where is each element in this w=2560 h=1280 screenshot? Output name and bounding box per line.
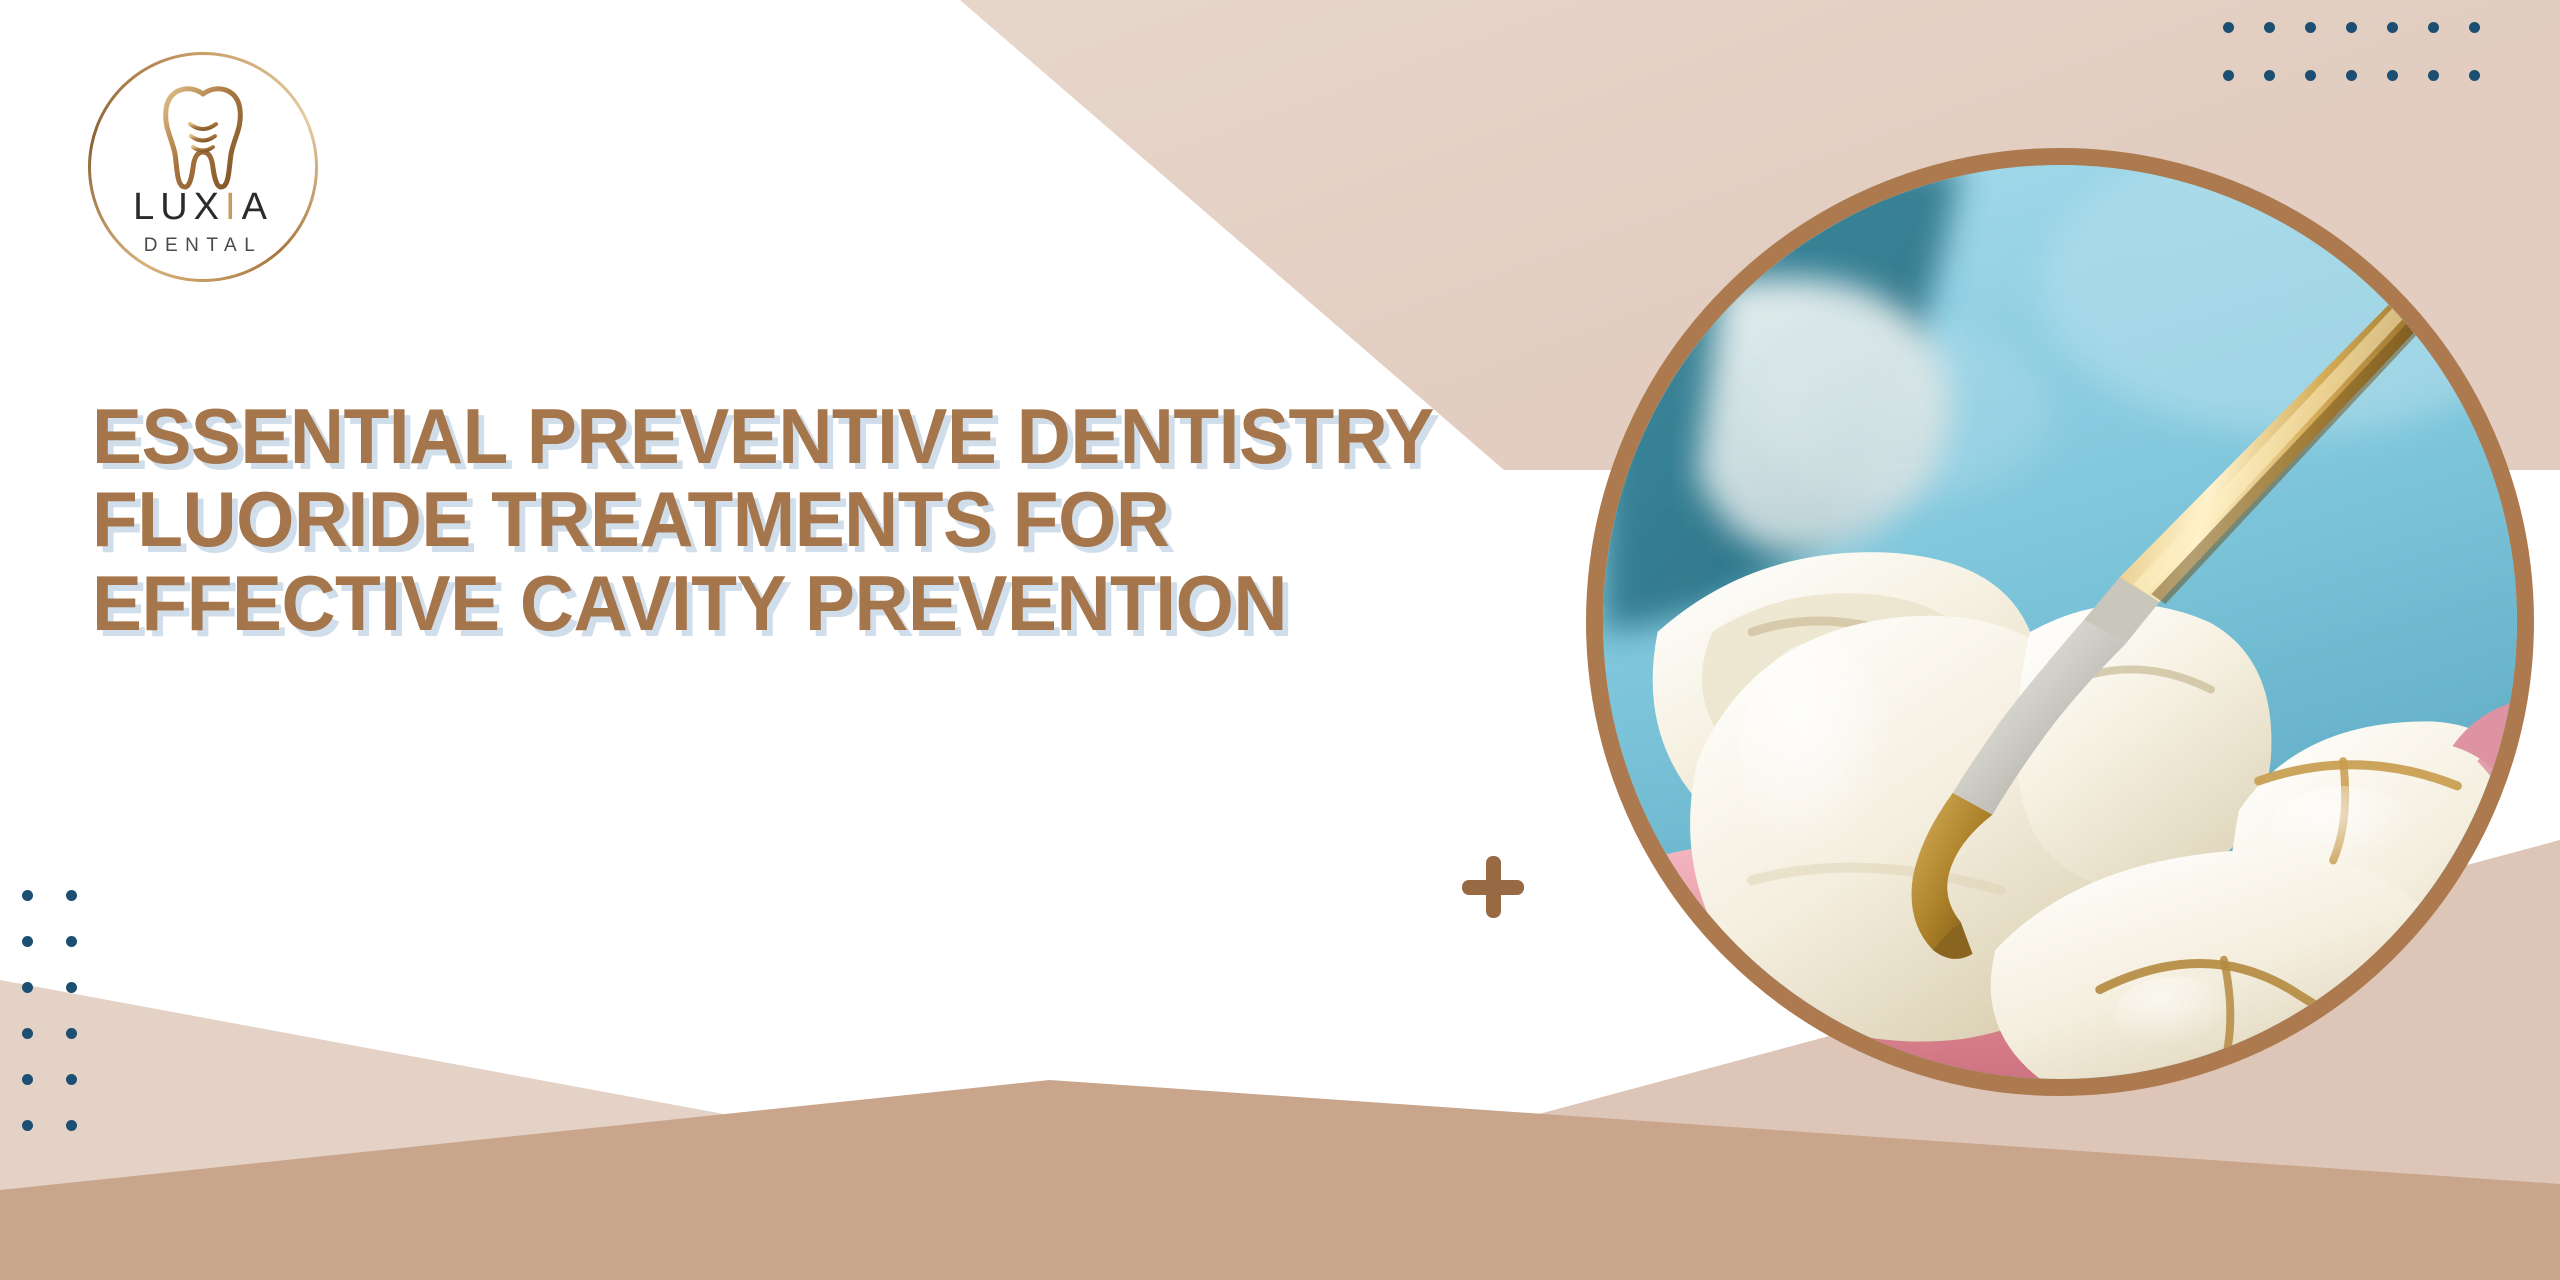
dot [2346, 70, 2357, 81]
dot [2305, 70, 2316, 81]
plus-icon-label: + [1462, 856, 1463, 857]
bottom-left-light-wedge [0, 980, 1620, 1280]
dot [22, 890, 33, 901]
dot [22, 982, 33, 993]
dot [2387, 70, 2398, 81]
dot [66, 1120, 77, 1131]
dot [2223, 22, 2234, 33]
dot [66, 982, 77, 993]
dot [22, 1074, 33, 1085]
bottom-center-tan-triangle [0, 1080, 2560, 1280]
dot [22, 1028, 33, 1039]
brand-logo[interactable]: LUXIA DENTAL [88, 52, 318, 282]
tooth-icon [160, 86, 246, 190]
page-title: ESSENTIAL PREVENTIVE DENTISTRY FLUORIDE … [92, 395, 1652, 645]
plus-icon-vertical-bar [1486, 856, 1501, 918]
dot-grid-bottom-left [22, 890, 110, 1166]
dot [2264, 22, 2275, 33]
logo-wordmark-accent: I [225, 186, 242, 228]
logo-wordmark-lux: LUX [133, 186, 225, 228]
dot [22, 936, 33, 947]
dental-treatment-photo [1603, 165, 2517, 1079]
dot [66, 890, 77, 901]
headline-line-1: ESSENTIAL PREVENTIVE DENTISTRY [92, 395, 1590, 478]
dot [2428, 22, 2439, 33]
dot-grid-top-right [2223, 22, 2510, 118]
dot [66, 1028, 77, 1039]
hero-image-circle [1586, 148, 2534, 1096]
dot [22, 1120, 33, 1131]
plus-icon: + [1462, 856, 1524, 918]
logo-wordmark-tail: A [242, 186, 273, 228]
dot [66, 936, 77, 947]
headline-line-3: EFFECTIVE CAVITY PREVENTION [92, 562, 1590, 645]
dot [2346, 22, 2357, 33]
dot [2469, 22, 2480, 33]
dot [2387, 22, 2398, 33]
headline-line-2: FLUORIDE TREATMENTS FOR [92, 478, 1590, 561]
dental-promo-banner: LUXIA DENTAL ESSENTIAL PREVENTIVE DENTIS… [0, 0, 2560, 1280]
dot [2264, 70, 2275, 81]
logo-wordmark: LUXIA [88, 188, 318, 226]
dot [66, 1074, 77, 1085]
dot [2428, 70, 2439, 81]
dot [2469, 70, 2480, 81]
dot [2223, 70, 2234, 81]
dot [2305, 22, 2316, 33]
logo-subtitle: DENTAL [88, 236, 318, 255]
